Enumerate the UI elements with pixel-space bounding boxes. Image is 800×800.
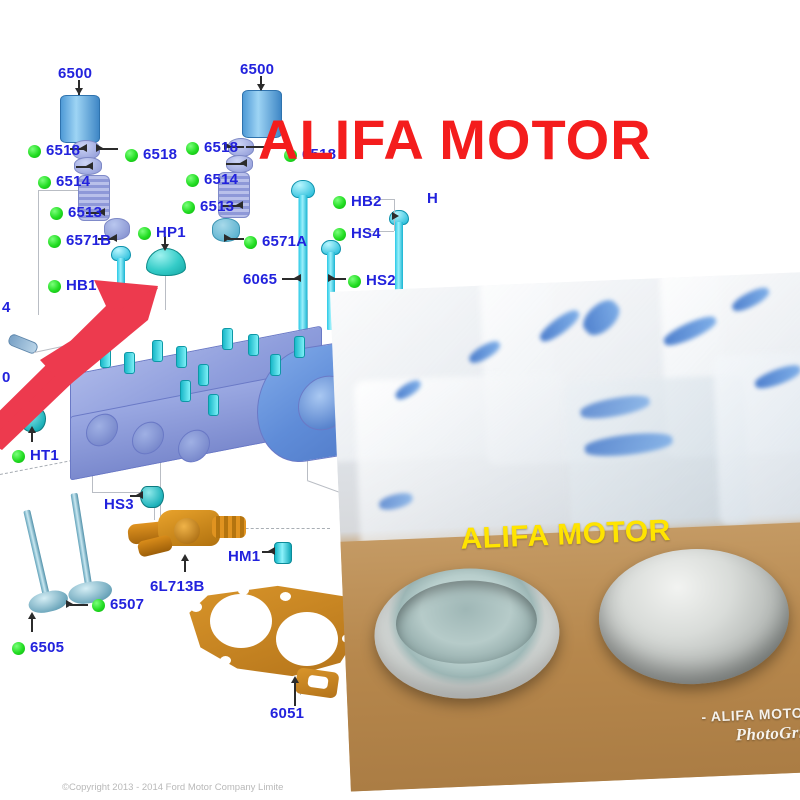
lead-HS2-arrow (328, 274, 335, 282)
lead-6571A-arrow (224, 234, 231, 242)
callout-dot-6514 (38, 176, 51, 189)
lead-6505-arrow (28, 612, 36, 619)
callout-dot-HT1 (12, 450, 25, 463)
callout-dot-6507 (92, 599, 105, 612)
lead-HS3-arrow (136, 491, 143, 499)
lead-6L713B-arrow (181, 554, 189, 561)
lead-6507-arrow (66, 600, 73, 608)
callout-label-HS3: HS3 (104, 497, 134, 512)
callout-label-6500: 6500 (58, 66, 92, 81)
callout-label-6513: 6513 (68, 205, 102, 220)
callout-dot-6571A (244, 236, 257, 249)
callout-dot-HS2 (348, 275, 361, 288)
callout-dot-6514 (186, 174, 199, 187)
callout-label-H: H (427, 191, 438, 206)
callout-label-6500: 6500 (240, 62, 274, 77)
callout-label-6513: 6513 (200, 199, 234, 214)
callout-dot-HS4 (333, 228, 346, 241)
callout-label-6065: 6065 (243, 272, 277, 287)
callout-dot-HP1 (138, 227, 151, 240)
copyright-notice: ©Copyright 2013 - 2014 Ford Motor Compan… (62, 782, 283, 793)
lead-6518-l-arrow (80, 144, 87, 152)
lead-6500-left-arrow (75, 88, 83, 95)
callout-label-HB2: HB2 (351, 194, 382, 209)
callout-label-6571A: 6571A (262, 234, 307, 249)
callout-label-6514: 6514 (56, 174, 90, 189)
lead-6500-right-arrow (257, 84, 265, 91)
brand-watermark-top: ALIFA MOTOR (258, 112, 652, 168)
callout-dot-HB2 (333, 196, 346, 209)
red-arrow-annotation (0, 250, 240, 450)
callout-label-6518: 6518 (46, 143, 80, 158)
part-HM1 (274, 542, 292, 564)
callout-label-6518: 6518 (143, 147, 177, 162)
callout-dot-6518 (125, 149, 138, 162)
lead-HM1-arrow (268, 547, 275, 555)
callout-dot-6571B (48, 235, 61, 248)
product-photo-content: ALIFA MOTOR - ALIFA MOTOR - PhotoGrid (330, 271, 800, 791)
callout-dot-6513 (50, 207, 63, 220)
callout-label-HT1: HT1 (30, 448, 59, 463)
screenshot-canvas: 6500650065186518651865186514651465136513… (0, 0, 800, 800)
callout-label-6518: 6518 (204, 140, 238, 155)
lead-6514-l-arrow (86, 162, 93, 170)
product-photo: ALIFA MOTOR - ALIFA MOTOR - PhotoGrid (330, 271, 800, 791)
callout-label-6L713B: 6L713B (150, 579, 205, 594)
callout-dot-6513 (182, 201, 195, 214)
callout-label-6514: 6514 (204, 172, 238, 187)
lead-6051-arrow (291, 676, 299, 683)
callout-label-HS2: HS2 (366, 273, 396, 288)
callout-label-6505: 6505 (30, 640, 64, 655)
callout-label-HP1: HP1 (156, 225, 186, 240)
callout-label-HM1: HM1 (228, 549, 260, 564)
callout-dot-6518 (28, 145, 41, 158)
callout-dot-6505 (12, 642, 25, 655)
lead-HB2-arrow (392, 212, 399, 220)
callout-label-6571B: 6571B (66, 233, 111, 248)
photogrid-watermark: PhotoGrid (735, 722, 800, 745)
lead-6514-r-arrow (240, 159, 247, 167)
callout-dot-6518 (186, 142, 199, 155)
lead-6513-r-arrow (236, 201, 243, 209)
callout-label-HS4: HS4 (351, 226, 381, 241)
lead-6065-arrow (294, 274, 301, 282)
part-6065-head-bolt (290, 180, 316, 330)
callout-label-6507: 6507 (110, 597, 144, 612)
lead-6518-r-arrow (96, 144, 103, 152)
part-6500-left (60, 95, 100, 143)
callout-label-6051: 6051 (270, 706, 304, 721)
